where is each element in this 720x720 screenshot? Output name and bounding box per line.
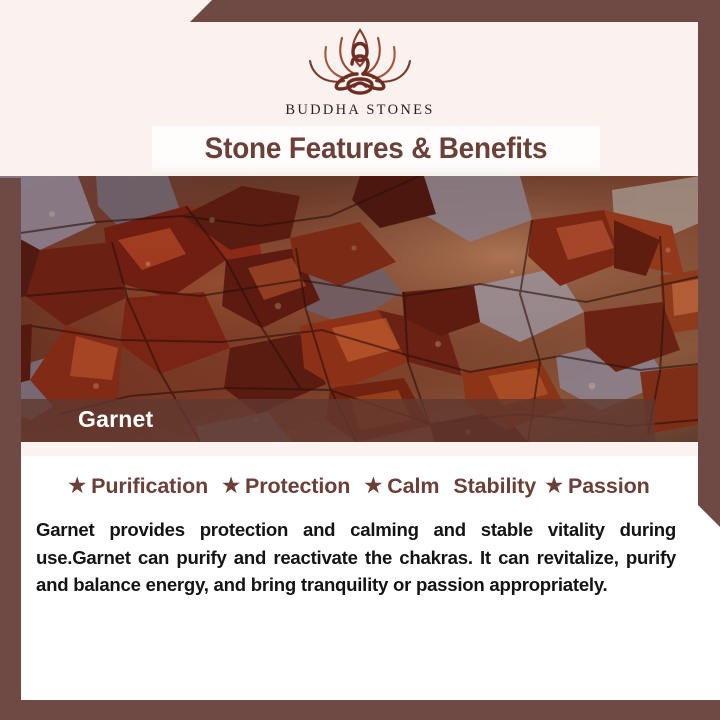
benefit-label: Protection: [245, 474, 350, 499]
benefit-label: Calm: [387, 474, 439, 499]
lotus-meditation-logo-icon: [282, 22, 438, 100]
body-card-top-strip: [21, 442, 697, 456]
benefit-item-stability: ★ Stability: [446, 474, 543, 499]
benefit-item-calm: ★ Calm: [357, 474, 446, 499]
benefits-list: ★ Purification ★ Protection ★ Calm ★ Sta…: [21, 474, 697, 499]
stone-features-infographic: BUDDHA STONES Stone Features & Benefits: [0, 0, 720, 720]
frame-bottom-bar: [0, 700, 720, 720]
star-icon: ★: [545, 476, 563, 496]
benefit-label: Passion: [568, 474, 650, 499]
page-title: Stone Features & Benefits: [168, 132, 585, 166]
benefit-label: Stability: [453, 474, 536, 499]
frame-right-bar: [698, 0, 720, 527]
brand-name: BUDDHA STONES: [0, 102, 720, 119]
benefit-item-passion: ★ Passion: [543, 474, 657, 499]
brand-logo: BUDDHA STONES: [0, 22, 720, 119]
benefit-item-purification: ★ Purification: [61, 474, 215, 499]
star-icon: ★: [68, 476, 86, 496]
frame-left-bar: [0, 178, 21, 718]
benefit-label: Purification: [91, 474, 208, 499]
stone-name: Garnet: [78, 406, 153, 433]
star-icon: ★: [222, 476, 240, 496]
benefit-item-protection: ★ Protection: [215, 474, 357, 499]
frame-bottom-notch: [0, 682, 21, 700]
stone-description: Garnet provides protection and calming a…: [36, 516, 676, 599]
star-icon: ★: [364, 476, 382, 496]
frame-top-bar: [190, 0, 720, 22]
